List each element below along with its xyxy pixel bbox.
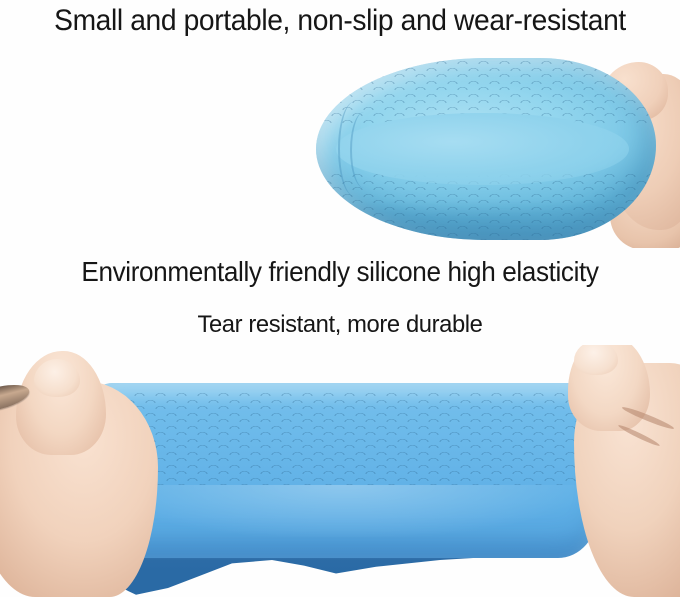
sole-smooth-arch [336,113,628,186]
right-thumb-nail [574,345,618,375]
headline-top: Small and portable, non-slip and wear-re… [20,4,659,38]
product-photo-bottom [0,345,680,597]
silicone-sole-top [316,58,656,240]
product-poster: Small and portable, non-slip and wear-re… [0,0,680,597]
right-hand [560,345,680,597]
cover-highlight [108,485,577,538]
sole-toe-crease [350,112,378,188]
headline-middle: Environmentally friendly silicone high e… [17,256,663,288]
left-thumb-nail [34,359,80,397]
sole-bottom-shadow [316,200,656,240]
product-photo-top [0,48,680,248]
left-hand [0,351,172,597]
headline-sub: Tear resistant, more durable [10,311,670,339]
